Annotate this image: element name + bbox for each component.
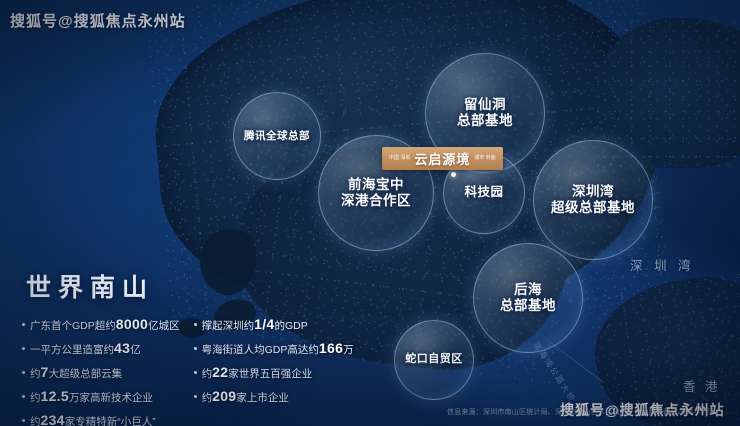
plaque-seal-right-icon: 城市 封面 [474, 156, 495, 161]
stat-number: 7 [41, 364, 49, 380]
stat-text: 广东首个GDP超约8000亿城区 [30, 316, 180, 334]
stat-prefix: 广东首个GDP超约 [30, 320, 116, 332]
map-label-shenzhen-bay: 深 圳 湾 [630, 255, 694, 274]
stat-suffix: 亿城区 [148, 320, 180, 332]
bubble-label: 蛇口自贸区 [405, 353, 463, 366]
stat-prefix: 一平方公里造富约 [30, 344, 114, 356]
stat-number: 209 [212, 388, 236, 404]
stat-bullet: 约12.5万家高新技术企业 [22, 388, 180, 406]
map-label-hongkong: 香 港 [683, 376, 720, 395]
stat-prefix: 撑起深圳约 [202, 320, 255, 332]
stat-bullet: 广东首个GDP超约8000亿城区 [22, 316, 180, 334]
bubble-shekou-free-trade-zone[interactable]: 蛇口自贸区 [394, 320, 474, 400]
stat-prefix: 约 [30, 416, 41, 426]
stat-suffix: 亿 [130, 344, 141, 356]
stat-number: 43 [114, 340, 130, 356]
stat-suffix: 大超级总部云集 [49, 368, 123, 380]
bubble-label: 前海宝中 深港合作区 [341, 177, 411, 210]
stat-text: 约22家世界五百强企业 [202, 364, 313, 382]
stat-text: 约209家上市企业 [202, 388, 289, 406]
project-name-plaque[interactable]: 中国 深圳 云启源境 城市 封面 [382, 147, 503, 170]
info-panel: 世界南山 广东首个GDP超约8000亿城区一平方公里造富约43亿约7大超级总部云… [22, 268, 352, 426]
stat-bullet: 约209家上市企业 [194, 388, 354, 406]
stat-bullet: 约7大超级总部云集 [22, 364, 180, 382]
stat-suffix: 家世界五百强企业 [228, 368, 312, 380]
stat-suffix: 万 [343, 344, 354, 356]
project-site-marker-dot [451, 172, 456, 177]
bubble-label: 腾讯全球总部 [244, 130, 310, 143]
stat-number: 166 [319, 340, 343, 356]
bullet-columns: 广东首个GDP超约8000亿城区一平方公里造富约43亿约7大超级总部云集约12.… [22, 316, 352, 426]
watermark-top-left: 搜狐号@搜狐焦点永州站 [10, 10, 186, 31]
stat-prefix: 约 [30, 392, 41, 404]
panel-title: 世界南山 [26, 268, 352, 304]
stat-text: 约7大超级总部云集 [30, 364, 122, 382]
stat-suffix: 家上市企业 [236, 392, 289, 404]
stat-prefix: 约 [202, 368, 213, 380]
stat-number: 12.5 [41, 388, 69, 404]
infographic-map: 滨海湾公路大桥 深 圳 湾 香 港 腾讯全球总部 留仙洞 总部基地 前海宝中 深… [0, 0, 740, 426]
source-credit: 信息来源：深圳市南山区统计局、深圳市南山区人民政府，统计数据截至2025年2月 [447, 407, 712, 417]
stat-bullet: 约234家专精特新“小巨人” [22, 412, 180, 426]
stat-bullet: 撑起深圳约1/4的GDP [194, 316, 354, 334]
project-name: 云启源境 [414, 149, 470, 168]
stat-text: 一平方公里造富约43亿 [30, 340, 141, 358]
stat-prefix: 约 [30, 368, 41, 380]
bubble-tencent-hq[interactable]: 腾讯全球总部 [233, 92, 321, 180]
stat-text: 粤海街道人均GDP高达约166万 [202, 340, 354, 358]
stat-suffix: 万家高新技术企业 [69, 392, 153, 404]
stat-number: 234 [41, 412, 65, 426]
stat-text: 约234家专精特新“小巨人” [30, 412, 156, 426]
stat-suffix: 的GDP [275, 320, 308, 332]
plaque-seal-left-icon: 中国 深圳 [389, 156, 410, 161]
bullet-column-right: 撑起深圳约1/4的GDP粤海街道人均GDP高达约166万约22家世界五百强企业约… [194, 316, 354, 426]
stat-number: 8000 [116, 316, 148, 332]
bullet-column-left: 广东首个GDP超约8000亿城区一平方公里造富约43亿约7大超级总部云集约12.… [22, 316, 180, 426]
bubble-label: 后海 总部基地 [500, 282, 556, 315]
stat-number: 22 [212, 364, 228, 380]
stat-bullet: 约22家世界五百强企业 [194, 364, 354, 382]
stat-suffix: 家专精特新“小巨人” [65, 416, 156, 426]
bubble-shenzhen-bay-super-hq-base[interactable]: 深圳湾 超级总部基地 [533, 140, 653, 260]
stat-bullet: 粤海街道人均GDP高达约166万 [194, 340, 354, 358]
stat-prefix: 粤海街道人均GDP高达约 [202, 344, 319, 356]
stat-text: 约12.5万家高新技术企业 [30, 388, 153, 406]
stat-number: 1/4 [254, 316, 274, 332]
stat-prefix: 约 [202, 392, 213, 404]
stat-bullet: 一平方公里造富约43亿 [22, 340, 180, 358]
bubble-label: 科技园 [464, 185, 503, 200]
stat-text: 撑起深圳约1/4的GDP [202, 316, 308, 334]
bubble-houhai-hq-base[interactable]: 后海 总部基地 [473, 243, 583, 353]
bubble-label: 深圳湾 超级总部基地 [551, 184, 635, 217]
bubble-label: 留仙洞 总部基地 [457, 97, 513, 130]
